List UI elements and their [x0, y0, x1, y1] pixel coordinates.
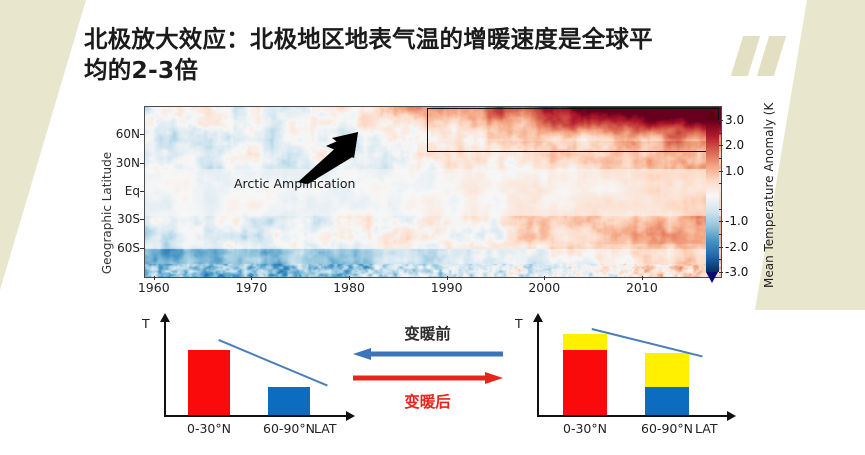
colorbar-tick-label: -2.0: [725, 240, 748, 254]
colorbar-gradient: [706, 120, 719, 272]
colorbar-tick-mark: [719, 120, 723, 121]
colorbar-tick-mark: [719, 171, 723, 172]
warming-legend: 变暖前 变暖后: [345, 322, 510, 422]
before-warming-arrow-icon: [353, 348, 503, 360]
y-tick-label: 60S: [117, 241, 140, 255]
panel-after-warming: T 0-30°N60-90°NLAT: [513, 308, 758, 448]
bar: [563, 334, 607, 415]
x-tick-label: 1980: [333, 280, 365, 295]
x-tick-mark: [544, 276, 545, 280]
bar-segment: [645, 387, 689, 416]
colorbar-minor-tick: [719, 209, 722, 210]
bar-segment: [268, 387, 310, 416]
colorbar-tick-mark: [719, 272, 723, 273]
heatmap-plot-area: [144, 106, 722, 278]
colorbar-tick-label: -1.0: [725, 214, 748, 228]
colorbar-minor-tick: [719, 158, 722, 159]
colorbar-tick-label: -3.0: [725, 265, 748, 279]
x-axis-label: LAT: [314, 421, 336, 436]
legend-before-label: 变暖前: [345, 322, 510, 344]
category-label: 0-30°N: [187, 421, 231, 436]
panel-left-x-axis: [164, 415, 348, 417]
panel-right-x-arrow: [727, 411, 736, 421]
panel-left-y-axis: [164, 320, 166, 417]
bar: [188, 350, 230, 415]
x-tick-label: 1990: [431, 280, 463, 295]
y-tick-label: 60N: [116, 127, 140, 141]
slide-canvas: 北极放大效应：北极地区地表气温的增暖速度是全球平 均的2-3倍 Geograph…: [0, 0, 865, 455]
colorbar-tick-label: 2.0: [725, 138, 744, 152]
annotation-arrow-icon: [296, 132, 370, 184]
x-tick-mark: [349, 276, 350, 280]
panel-before-warming: T 0-30°N60-90°NLAT: [140, 308, 370, 448]
x-tick-label: 1970: [235, 280, 267, 295]
bar-segment: [563, 334, 607, 350]
y-axis-ticks: 60N30NEq30S60S: [88, 100, 140, 270]
colorbar: 3.02.01.0-1.0-2.0-3.0 Mean Temperature A…: [698, 100, 788, 290]
colorbar-tick-mark: [719, 221, 723, 222]
y-tick-label: Eq: [125, 184, 140, 198]
x-tick-mark: [447, 276, 448, 280]
panel-right-x-axis: [537, 415, 729, 417]
y-tick-label: 30N: [116, 156, 140, 170]
x-tick-label: 1960: [138, 280, 170, 295]
bar: [268, 387, 310, 416]
x-axis-label: LAT: [695, 421, 717, 436]
category-label: 60-90°N: [263, 421, 315, 436]
panel-left-y-label: T: [142, 316, 150, 331]
colorbar-bottom-arrow: [706, 272, 718, 283]
colorbar-tick-mark: [719, 247, 723, 248]
legend-after-label: 变暖后: [345, 390, 510, 412]
bar-segment: [188, 350, 230, 415]
colorbar-minor-tick: [719, 234, 722, 235]
panel-right-y-label: T: [515, 316, 523, 331]
colorbar-minor-tick: [719, 183, 722, 184]
x-tick-mark: [642, 276, 643, 280]
colorbar-tick-mark: [719, 145, 723, 146]
colorbar-tick-label: 1.0: [725, 164, 744, 178]
x-tick-label: 2000: [528, 280, 560, 295]
colorbar-top-arrow: [706, 109, 718, 120]
colorbar-minor-tick: [719, 259, 722, 260]
x-tick-mark: [154, 276, 155, 280]
colorbar-tick-label: 3.0: [725, 113, 744, 127]
after-warming-arrow-icon: [353, 372, 503, 384]
colorbar-label: Mean Temperature Anomaly (K: [762, 88, 776, 288]
category-label: 0-30°N: [563, 421, 607, 436]
x-tick-mark: [251, 276, 252, 280]
x-tick-label: 2010: [626, 280, 658, 295]
category-label: 60-90°N: [641, 421, 693, 436]
y-tick-label: 30S: [117, 212, 140, 226]
bar-segment: [563, 350, 607, 415]
panel-right-y-axis: [537, 320, 539, 417]
page-title: 北极放大效应：北极地区地表气温的增暖速度是全球平 均的2-3倍: [84, 24, 764, 86]
trend-line: [218, 339, 327, 386]
bar-segment: [645, 353, 689, 386]
bar: [645, 353, 689, 415]
heatmap-figure: Geographic Latitude 60N30NEq30S60S 19601…: [88, 100, 788, 305]
colorbar-minor-tick: [719, 133, 722, 134]
